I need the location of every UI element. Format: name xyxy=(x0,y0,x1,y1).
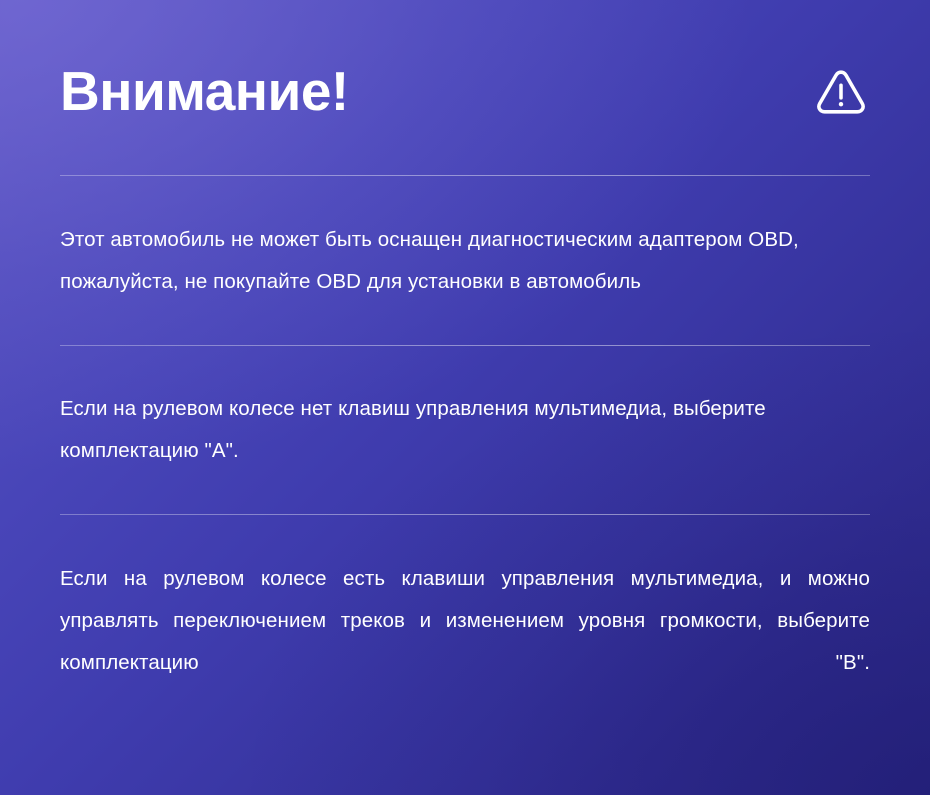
page-title: Внимание! xyxy=(60,64,349,119)
notice-content: Внимание! Этот автомобиль не может быть … xyxy=(0,0,930,726)
warning-triangle-icon xyxy=(814,65,868,119)
notice-paragraph-trim-a: Если на рулевом колесе нет клавиш управл… xyxy=(60,346,870,514)
warning-notice-panel: Внимание! Этот автомобиль не может быть … xyxy=(0,0,930,795)
notice-header: Внимание! xyxy=(60,0,870,175)
notice-paragraph-trim-b: Если на рулевом колесе есть клавиши упра… xyxy=(60,515,870,726)
notice-paragraph-obd-warning: Этот автомобиль не может быть оснащен ди… xyxy=(60,176,870,345)
